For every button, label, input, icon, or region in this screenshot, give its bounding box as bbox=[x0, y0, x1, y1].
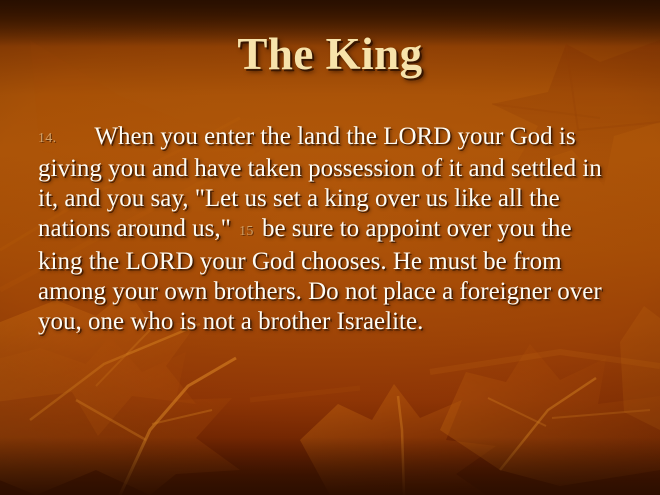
slide-title: The King bbox=[0, 31, 660, 78]
slide-body-text: 14.When you enter the land the LORD your… bbox=[38, 122, 622, 337]
verse-number-15: 15 bbox=[237, 224, 256, 239]
presentation-slide: The King 14.When you enter the land the … bbox=[0, 0, 660, 495]
verse-number-14: 14. bbox=[38, 131, 56, 146]
slide-content: The King 14.When you enter the land the … bbox=[0, 0, 660, 495]
